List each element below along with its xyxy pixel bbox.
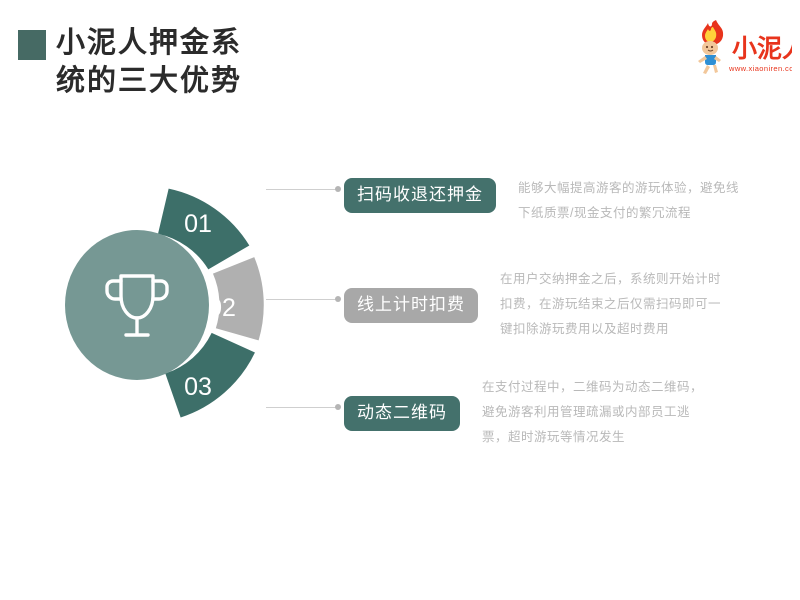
- slide-canvas: 小泥人押金系 统的三大优势 小泥人: [0, 0, 800, 600]
- segment-number-03: 03: [184, 373, 212, 401]
- advantage-row-03: 动态二维码 在支付过程中，二维码为动态二维码，避免游客利用管理疏漏或内部员工逃票…: [266, 396, 714, 450]
- connector-line-01: [266, 178, 344, 202]
- connector-stroke: [266, 407, 336, 408]
- page-title: 小泥人押金系 统的三大优势: [18, 24, 271, 100]
- connector-line-03: [266, 396, 344, 420]
- title-line-1: 小泥人押金系: [56, 24, 271, 62]
- logo-website: www.xiaoniren.com: [728, 64, 792, 73]
- advantage-row-02: 线上计时扣费 在用户交纳押金之后，系统则开始计时扣费，在游玩结束之后仅需扫码即可…: [266, 288, 732, 342]
- title-text: 小泥人押金系 统的三大优势: [56, 24, 271, 100]
- advantage-description-03: 在支付过程中，二维码为动态二维码，避免游客利用管理疏漏或内部员工逃票，超时游玩等…: [482, 374, 714, 450]
- connector-dot: [335, 186, 341, 192]
- advantage-label-02[interactable]: 线上计时扣费: [344, 288, 478, 323]
- advantage-row-01: 扫码收退还押金 能够大幅提高游客的游玩体验，避免线下纸质票/现金支付的繁冗流程: [266, 178, 750, 226]
- connector-dot: [335, 296, 341, 302]
- connector-stroke: [266, 299, 336, 300]
- connector-dot: [335, 404, 341, 410]
- flame-icon: [702, 20, 723, 45]
- title-marker-square: [18, 30, 46, 60]
- brand-logo: 小泥人 www.xiaoniren.com: [688, 14, 792, 76]
- segment-number-01: 01: [184, 210, 212, 238]
- connector-stroke: [266, 189, 336, 190]
- center-circle: [65, 230, 209, 380]
- advantage-description-02: 在用户交纳押金之后，系统则开始计时扣费，在游玩结束之后仅需扫码即可一键扣除游玩费…: [500, 266, 732, 342]
- advantage-label-03[interactable]: 动态二维码: [344, 396, 460, 431]
- advantage-description-01: 能够大幅提高游客的游玩体验，避免线下纸质票/现金支付的繁冗流程: [518, 175, 750, 226]
- advantage-label-01[interactable]: 扫码收退还押金: [344, 178, 496, 213]
- mascot-icon: [698, 41, 721, 74]
- segment-number-02: 02: [208, 294, 236, 322]
- title-line-2: 统的三大优势: [56, 62, 271, 100]
- diagram-segment-02[interactable]: 02: [208, 257, 266, 343]
- connector-line-02: [266, 288, 344, 312]
- logo-brand-name: 小泥人: [732, 35, 792, 63]
